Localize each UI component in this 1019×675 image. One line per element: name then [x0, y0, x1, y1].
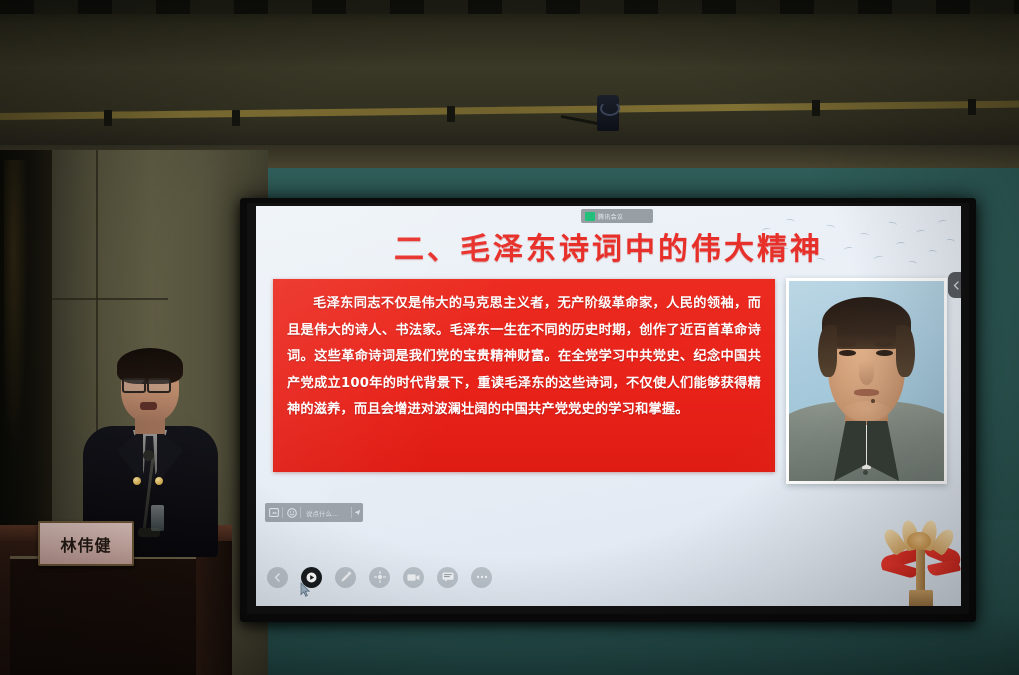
slide-body-paragraph: 毛泽东同志不仅是伟大的马克思主义者，无产阶级革命家，人民的领袖，而且是伟大的诗人…: [273, 279, 775, 424]
water-bottle: [151, 505, 164, 531]
ceiling-mount: [447, 106, 455, 122]
annotate-button[interactable]: [437, 567, 458, 588]
lapel-pin: [133, 477, 141, 485]
mao-zedong-portrait: [786, 278, 947, 484]
back-button[interactable]: [267, 567, 288, 588]
laser-pointer-icon: [306, 572, 317, 583]
screen-share-icon[interactable]: [265, 503, 282, 522]
ceiling-mount: [812, 100, 820, 116]
presentation-toolbar[interactable]: [267, 562, 587, 592]
chat-bubble-icon: [442, 572, 454, 582]
pencil-icon: [340, 571, 352, 583]
ceiling: [0, 0, 1019, 150]
pen-button[interactable]: [335, 567, 356, 588]
chevron-left-icon: [273, 573, 282, 582]
presentation-room-photo: 二、毛泽东诗词中的伟大精神 毛泽东同志不仅是伟大的马克思主义者，无产阶级革命家，…: [0, 0, 1019, 675]
lapel-pin: [155, 477, 163, 485]
spotlight-button[interactable]: [369, 567, 390, 588]
ceiling-slats: [0, 0, 1019, 14]
ellipsis-icon: [476, 575, 488, 579]
ceiling-projector: [597, 95, 619, 131]
meeting-badge-label: 腾讯会议: [598, 212, 623, 221]
ceiling-mount: [104, 110, 112, 126]
slide-red-text-box: 毛泽东同志不仅是伟大的马克思主义者，无产阶级革命家，人民的领袖，而且是伟大的诗人…: [273, 279, 775, 472]
slide-title: 二、毛泽东诗词中的伟大精神: [256, 224, 961, 268]
mouse-cursor: [300, 582, 311, 597]
spotlight-icon: [374, 571, 386, 583]
tencent-meeting-badge: 腾讯会议: [581, 209, 653, 223]
speaker-name: 林伟健: [60, 532, 111, 556]
chat-input[interactable]: 说点什么...: [301, 508, 351, 518]
lotus-flower-ribbon-ornament: [876, 516, 961, 606]
podium-side-edge: [196, 541, 232, 675]
presentation-slide: 二、毛泽东诗词中的伟大精神 毛泽东同志不仅是伟大的马克思主义者，无产阶级革命家，…: [256, 206, 961, 606]
podium-front-panel: [10, 556, 196, 675]
send-icon[interactable]: [352, 503, 363, 522]
meeting-logo-icon: [585, 212, 595, 221]
ceiling-mount: [232, 110, 240, 126]
meeting-chat-bar[interactable]: 说点什么...: [265, 503, 363, 522]
video-camera-icon: [407, 573, 420, 582]
microphone-head: [143, 450, 154, 461]
emoji-icon[interactable]: [283, 503, 300, 522]
speaker-nameplate: 林伟健: [38, 521, 134, 566]
sidebar-collapse-tab[interactable]: [948, 272, 961, 298]
ceiling-mount: [968, 99, 976, 115]
chevron-left-icon: [953, 281, 959, 290]
eyeglasses: [147, 378, 171, 393]
wall-seam: [46, 298, 168, 300]
camera-button[interactable]: [403, 567, 424, 588]
eyeglasses: [122, 378, 146, 393]
more-button[interactable]: [471, 567, 492, 588]
